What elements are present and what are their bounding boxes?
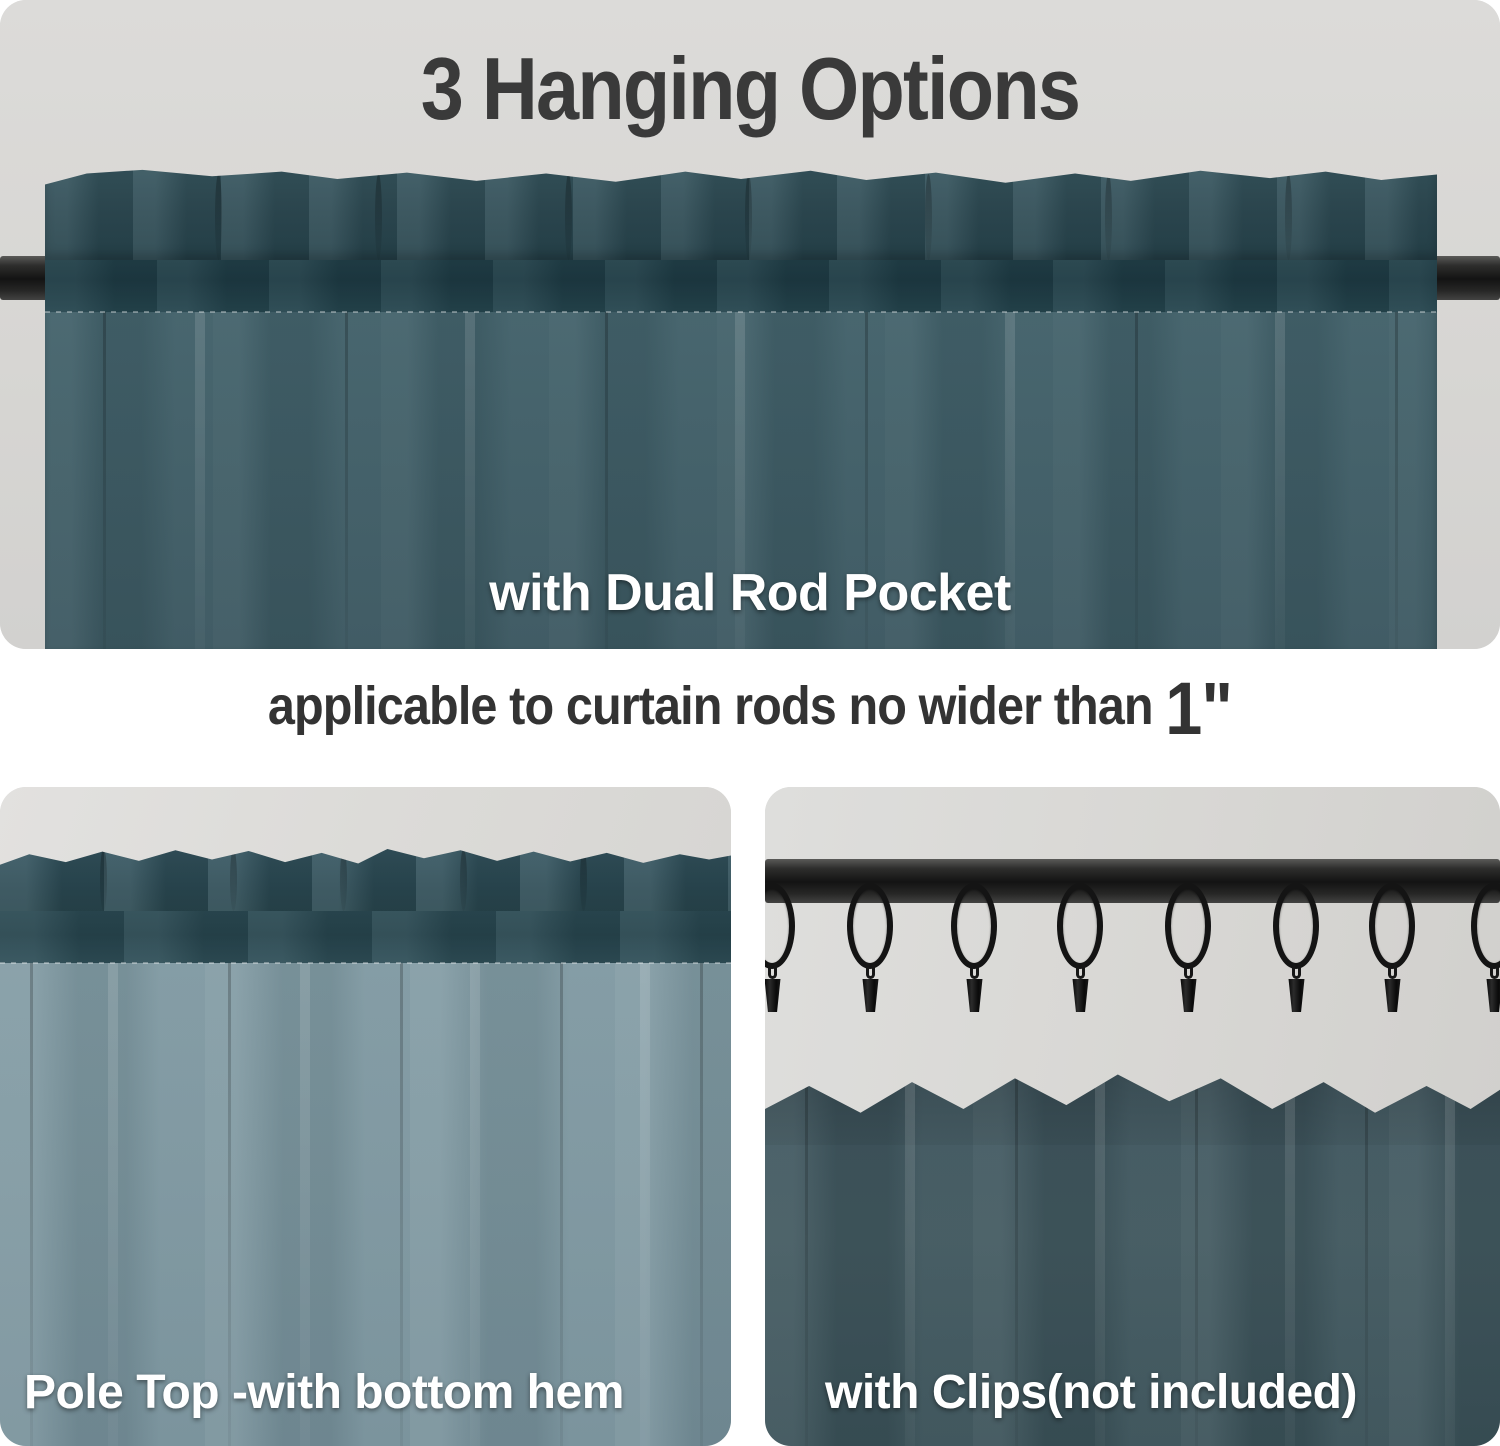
curtain-ring-icon <box>847 883 893 969</box>
stitch-seam-lower <box>45 311 1437 313</box>
ring-hook-icon <box>1076 963 1085 979</box>
subtitle-measurement: 1" <box>1165 676 1232 743</box>
ring-clip-assembly <box>1273 883 1319 969</box>
subtitle-rod-width-note: applicable to curtain rods no wider than… <box>75 664 1425 748</box>
ring-clip-assembly <box>951 883 997 969</box>
curtain-ring-icon <box>1057 883 1103 969</box>
stitch-seam-lower <box>0 962 731 964</box>
ring-clip-assembly <box>1057 883 1103 969</box>
caption-dual-rod-pocket: with Dual Rod Pocket <box>0 563 1500 623</box>
ruffled-top-flap <box>45 168 1437 260</box>
panel-clips: with Clips(not included) <box>765 787 1500 1446</box>
curtain-panel-pole-top <box>0 845 731 1446</box>
rod-pocket-band <box>45 254 1437 312</box>
curtain-ring-icon <box>951 883 997 969</box>
curtain-ring-icon <box>1273 883 1319 969</box>
ring-hook-icon <box>1388 963 1397 979</box>
caption-clips: with Clips(not included) <box>765 1365 1500 1420</box>
ring-hook-icon <box>1184 963 1193 979</box>
ruffled-top-flap <box>0 845 731 911</box>
curtain-ring-icon <box>1471 883 1500 969</box>
ring-clip-assembly <box>1471 883 1500 969</box>
curtain-ring-icon <box>1369 883 1415 969</box>
ring-hook-icon <box>1292 963 1301 979</box>
panel-dual-rod-pocket: 3 Hanging Options w <box>0 0 1500 649</box>
ring-hook-icon <box>1490 963 1499 979</box>
ring-clip-assembly <box>1369 883 1415 969</box>
subtitle-text: applicable to curtain rods no wider than <box>268 675 1153 737</box>
ring-clip-assembly <box>765 883 795 969</box>
ring-hook-icon <box>970 963 979 979</box>
caption-pole-top: Pole Top -with bottom hem <box>0 1365 731 1420</box>
curtain-ring-icon <box>765 883 795 969</box>
ring-clip-assembly <box>1165 883 1211 969</box>
ring-hook-icon <box>768 963 777 979</box>
ring-clip-assembly <box>847 883 893 969</box>
ring-hook-icon <box>866 963 875 979</box>
panel-pole-top: Pole Top -with bottom hem <box>0 787 731 1446</box>
page-title: 3 Hanging Options <box>90 38 1410 140</box>
curtain-ring-icon <box>1165 883 1211 969</box>
rod-pocket-band <box>0 907 731 963</box>
